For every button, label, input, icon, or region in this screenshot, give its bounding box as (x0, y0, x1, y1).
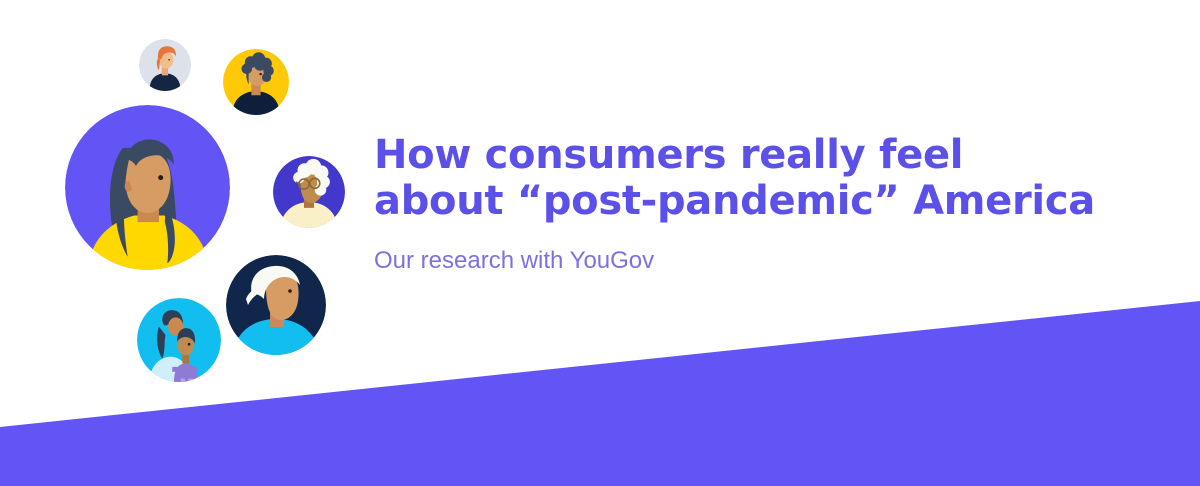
page-subtitle: Our research with YouGov (374, 224, 1174, 276)
avatar-white-hair-navy (226, 255, 326, 355)
avatar-senior-with-glasses (273, 156, 345, 228)
avatar-cluster (0, 0, 380, 400)
avatar-curly-hair-yellow (223, 49, 289, 115)
hero-text-block: How consumers really feel about “post-pa… (374, 132, 1174, 276)
hero-banner: How consumers really feel about “post-pa… (0, 0, 1200, 486)
page-title: How consumers really feel about “post-pa… (374, 132, 1174, 224)
avatar-long-hair-primary (65, 105, 230, 270)
headline-line-1: How consumers really feel (374, 132, 1174, 178)
avatar-parent-and-child (137, 298, 221, 382)
headline-line-2: about “post-pandemic” America (374, 178, 1174, 224)
avatar-orange-hair (139, 39, 191, 91)
